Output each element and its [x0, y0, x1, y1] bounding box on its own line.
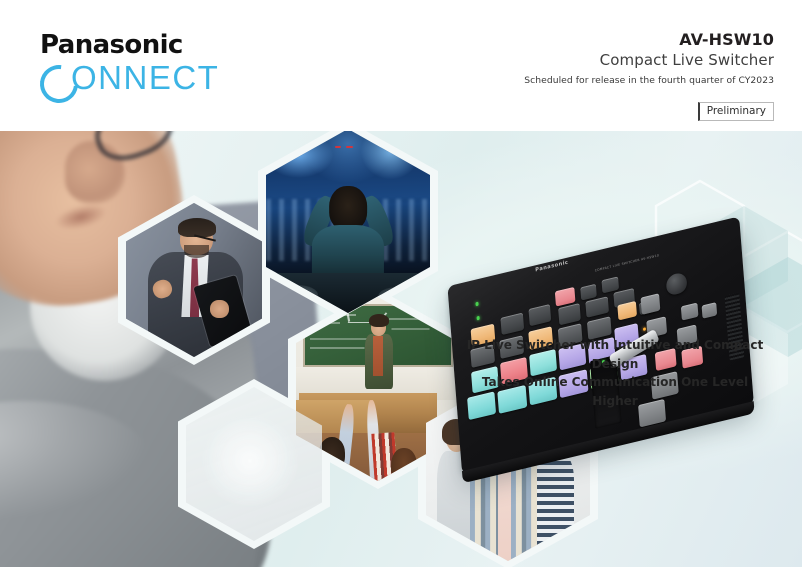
aux-button-2[interactable] [702, 302, 718, 319]
status-badge: Preliminary [698, 102, 774, 121]
tagline-line-1: IP Live Switcher with Intuitive and Comp… [467, 338, 764, 371]
product-model: AV-HSW10 [524, 30, 774, 49]
audio-level-knob[interactable] [665, 271, 687, 297]
product-brochure-page: Panasonic ONNECT AV-HSW10 Compact Live S… [0, 0, 802, 567]
power-led-icon [475, 302, 479, 306]
teacher-hair [369, 314, 389, 327]
brand-connect-label: ONNECT [71, 61, 219, 96]
stage-light-red-1 [335, 146, 342, 149]
dj-head [329, 186, 367, 230]
hero-tagline: IP Live Switcher with Intuitive and Comp… [465, 336, 765, 411]
panasonic-connect-logo: Panasonic ONNECT [40, 32, 300, 96]
product-title-block: AV-HSW10 Compact Live Switcher Scheduled… [524, 30, 774, 86]
fn-button-5[interactable] [585, 296, 608, 318]
hero-banner: IP Live Switcher with Intuitive and Comp… [0, 131, 802, 567]
tagline-line-2: Takes Online Communication One Level Hig… [465, 373, 765, 410]
fn-button-2[interactable] [500, 312, 523, 334]
device-model-label: COMPACT LIVE SWITCHER AV-HSW10 [595, 253, 660, 272]
teacher-shirt [373, 336, 383, 376]
connect-ring-icon [40, 65, 70, 95]
aux-button-1[interactable] [681, 303, 698, 321]
page-header: Panasonic ONNECT AV-HSW10 Compact Live S… [0, 0, 802, 131]
product-name: Compact Live Switcher [524, 51, 774, 69]
audio-led-icon [642, 327, 646, 331]
fn-button-8[interactable] [601, 276, 618, 293]
fn-button-7[interactable] [580, 283, 597, 300]
menu-button[interactable] [640, 293, 660, 314]
status-badge-wrapper: Preliminary [698, 101, 774, 121]
fn-button-3[interactable] [528, 304, 551, 326]
faint-hex-shape [202, 415, 297, 507]
fn-button-pink-top[interactable] [555, 287, 575, 307]
fn-button-4[interactable] [558, 303, 581, 325]
stage-light-red-2 [346, 146, 353, 149]
brand-connect-text: ONNECT [40, 61, 300, 96]
release-schedule-note: Scheduled for release in the fourth quar… [524, 75, 774, 86]
status-led-icon [477, 316, 481, 320]
brand-panasonic-text: Panasonic [40, 32, 300, 59]
